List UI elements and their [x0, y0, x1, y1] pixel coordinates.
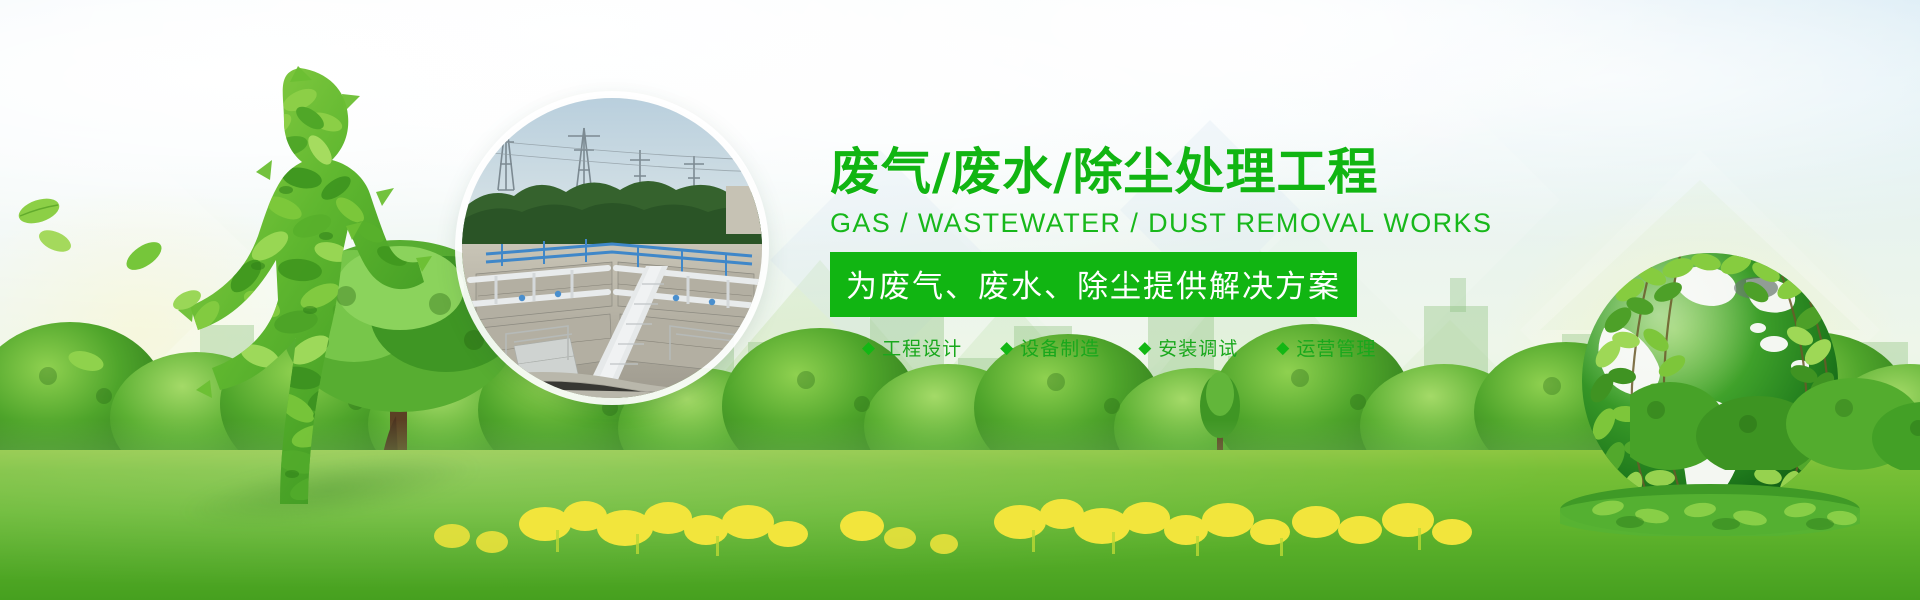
service-bullet-label: 工程设计 [882, 334, 962, 361]
floating-leaf-5 [170, 288, 204, 312]
wastewater-plant-photo-circle [462, 98, 762, 398]
service-bullet-item-2[interactable]: ◆ 设备制造 [1000, 334, 1100, 361]
diamond-bullet-icon: ◆ [1000, 339, 1013, 356]
service-bullet-item-4[interactable]: ◆ 运营管理 [1276, 334, 1376, 361]
floating-leaf-4 [66, 348, 106, 374]
floating-leaf-3 [122, 242, 166, 270]
floating-leaf-1 [16, 196, 62, 226]
english-subtitle: GAS / WASTEWATER / DUST REMOVAL WORKS [830, 208, 1480, 239]
page-title: 废气/废水/除尘处理工程 [830, 146, 1480, 199]
eco-engineering-hero-banner: 废气/废水/除尘处理工程 GAS / WASTEWATER / DUST REM… [0, 0, 1920, 600]
solution-tagline-bar: 为废气、废水、除尘提供解决方案 [830, 252, 1357, 317]
service-bullet-item-3[interactable]: ◆ 安装调试 [1138, 334, 1238, 361]
floating-leaf-2 [36, 228, 74, 254]
service-bullet-label: 设备制造 [1020, 334, 1100, 361]
service-bullet-item-1[interactable]: ◆ 工程设计 [862, 334, 962, 361]
service-bullet-label: 安装调试 [1158, 334, 1238, 361]
diamond-bullet-icon: ◆ [1276, 339, 1289, 356]
diamond-bullet-icon: ◆ [1138, 339, 1151, 356]
service-bullet-label: 运营管理 [1296, 334, 1376, 361]
service-bullet-list: ◆ 工程设计 ◆ 设备制造 ◆ 安装调试 ◆ 运营管理 [862, 334, 1480, 361]
shrubs-near-globe [1630, 340, 1920, 470]
headline-text-block: 废气/废水/除尘处理工程 GAS / WASTEWATER / DUST REM… [830, 146, 1480, 361]
diamond-bullet-icon: ◆ [862, 339, 875, 356]
solution-tagline-text: 为废气、废水、除尘提供解决方案 [846, 269, 1341, 305]
